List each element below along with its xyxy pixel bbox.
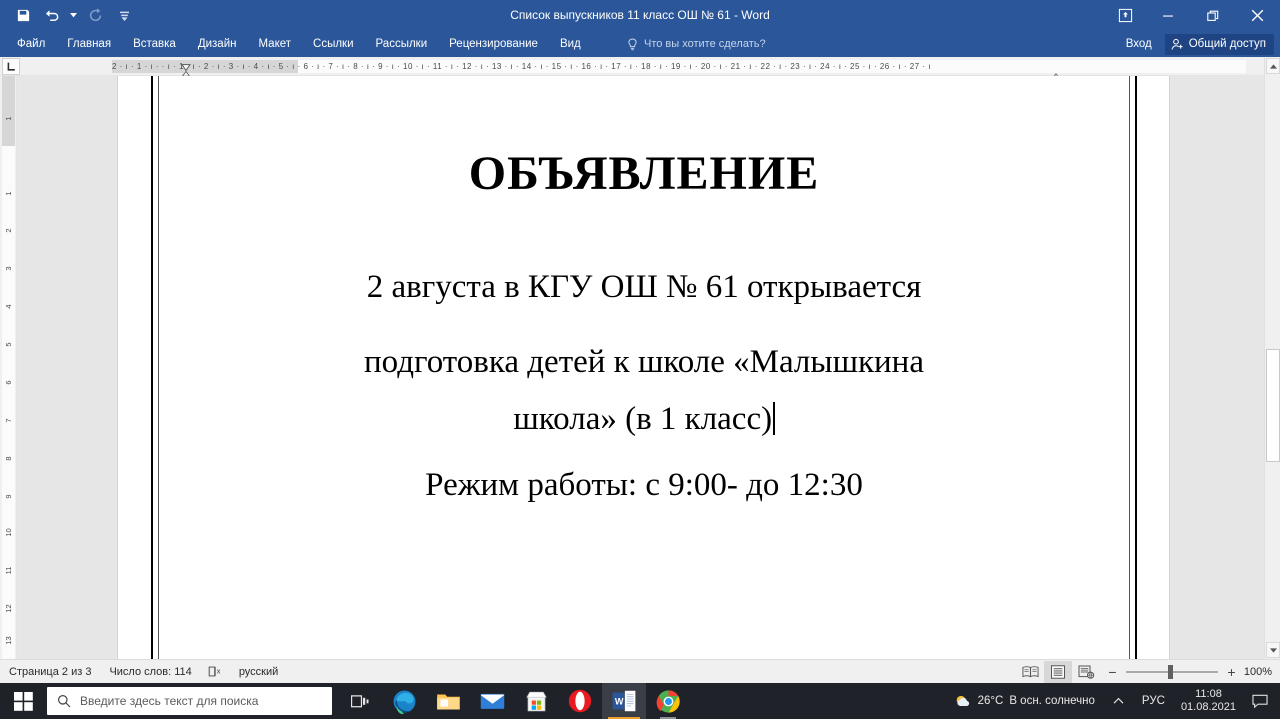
edge-icon[interactable] — [382, 683, 426, 719]
document-paragraph-2-line-1: подготовка детей к школе «Малышкина — [364, 344, 924, 380]
zoom-in-button[interactable]: + — [1225, 662, 1238, 682]
mail-icon[interactable] — [470, 683, 514, 719]
document-paragraph-3: Режим работы: с 9:00- до 12:30 — [178, 469, 1110, 502]
document-paragraph-1: 2 августа в КГУ ОШ № 61 открывается — [178, 271, 1110, 304]
scroll-down-icon[interactable] — [1266, 642, 1280, 658]
ribbon-options-icon[interactable] — [1105, 0, 1145, 31]
clock-time: 11:08 — [1181, 688, 1236, 701]
zoom-out-button[interactable]: − — [1106, 662, 1119, 682]
horizontal-ruler[interactable]: 2 · ı · 1 · ı · · ı · 1 · ı · 2 · ı · 3 … — [0, 57, 1264, 76]
tell-me-label: Что вы хотите сделать? — [644, 38, 766, 50]
text-cursor — [773, 402, 775, 435]
word-application-window: Список выпускников 11 класс ОШ № 61 - Wo… — [0, 0, 1280, 719]
language-indicator[interactable]: русский — [230, 660, 287, 684]
title-bar: Список выпускников 11 класс ОШ № 61 - Wo… — [0, 0, 1280, 31]
sign-in-button[interactable]: Вход — [1117, 31, 1161, 57]
clock-date: 01.08.2021 — [1181, 701, 1236, 714]
sun-cloud-icon — [954, 693, 972, 710]
window-controls — [1105, 0, 1280, 31]
tab-layout[interactable]: Макет — [247, 31, 302, 57]
vertical-ruler-number: 9 — [4, 490, 13, 503]
proofing-errors-icon[interactable]: x — [201, 660, 230, 684]
document-paragraph-2: подготовка детей к школе «Малышкина школ… — [178, 334, 1110, 448]
status-bar-right: − + 100% — [1016, 660, 1276, 684]
language-indicator-tray[interactable]: РУС — [1134, 695, 1173, 707]
share-label: Общий доступ — [1189, 38, 1266, 50]
search-input[interactable]: Введите здесь текст для поиска — [47, 687, 332, 715]
tab-review[interactable]: Рецензирование — [438, 31, 549, 57]
web-layout-icon[interactable] — [1072, 661, 1100, 683]
vertical-ruler-margin — [2, 76, 15, 146]
store-icon[interactable] — [514, 683, 558, 719]
zoom-slider[interactable] — [1126, 662, 1218, 682]
save-icon[interactable] — [10, 4, 36, 28]
restore-icon[interactable] — [1190, 0, 1235, 31]
chrome-icon[interactable] — [646, 683, 690, 719]
vertical-ruler-track: 1 1 2 3 4 5 6 7 8 9 10 11 12 13 — [2, 76, 15, 659]
page-indicator[interactable]: Страница 2 из 3 — [0, 660, 100, 684]
system-tray: 26°C В осн. солнечно РУС 11:08 01.08.202… — [946, 683, 1280, 719]
undo-icon[interactable] — [39, 4, 65, 28]
document-heading: ОБЪЯВЛЕНИЕ — [178, 148, 1110, 201]
search-placeholder: Введите здесь текст для поиска — [80, 694, 258, 708]
person-add-icon — [1171, 38, 1184, 51]
tab-design[interactable]: Дизайн — [187, 31, 248, 57]
document-paragraph-2-line-2: школа» (в 1 класс) — [513, 401, 772, 437]
document-content[interactable]: ОБЪЯВЛЕНИЕ 2 августа в КГУ ОШ № 61 откры… — [178, 76, 1110, 659]
document-canvas[interactable]: ОБЪЯВЛЕНИЕ 2 августа в КГУ ОШ № 61 откры… — [17, 76, 1264, 659]
customize-quick-access-icon[interactable] — [111, 4, 137, 28]
minimize-icon[interactable] — [1145, 0, 1190, 31]
tab-view[interactable]: Вид — [549, 31, 592, 57]
account-area: Вход Общий доступ — [1117, 31, 1274, 57]
zoom-level[interactable]: 100% — [1238, 666, 1276, 678]
vertical-ruler-number: 8 — [4, 452, 13, 465]
vertical-ruler-number: 3 — [4, 262, 13, 275]
status-bar: Страница 2 из 3 Число слов: 114 x русски… — [0, 659, 1280, 683]
zoom-control[interactable]: − + — [1106, 662, 1238, 682]
ruler-tick-labels: 2 · ı · 1 · ı · · ı · 1 · ı · 2 · ı · 3 … — [112, 60, 1167, 73]
ribbon-tabs: Файл Главная Вставка Дизайн Макет Ссылки… — [6, 31, 592, 57]
lightbulb-icon — [626, 37, 639, 52]
ribbon-tab-bar: Файл Главная Вставка Дизайн Макет Ссылки… — [0, 31, 1280, 57]
svg-text:x: x — [217, 667, 221, 676]
vertical-ruler-number: 5 — [4, 338, 13, 351]
vertical-ruler-number: 12 — [4, 602, 13, 615]
zoom-slider-thumb[interactable] — [1168, 665, 1173, 679]
quick-access-toolbar — [10, 0, 137, 31]
svg-text:W: W — [615, 697, 624, 707]
vertical-ruler-number: 2 — [4, 224, 13, 237]
ruler-track: 2 · ı · 1 · ı · · ı · 1 · ı · 2 · ı · 3 … — [112, 60, 1167, 73]
tab-references[interactable]: Ссылки — [302, 31, 365, 57]
weather-temperature: 26°C — [978, 695, 1004, 707]
print-layout-icon[interactable] — [1044, 661, 1072, 683]
scrollbar-thumb[interactable] — [1266, 349, 1280, 462]
clock[interactable]: 11:08 01.08.2021 — [1173, 688, 1244, 714]
taskbar-buttons: W — [338, 683, 690, 719]
tab-insert[interactable]: Вставка — [122, 31, 187, 57]
vertical-ruler-number: 10 — [4, 526, 13, 539]
folder-icon[interactable] — [426, 683, 470, 719]
share-button[interactable]: Общий доступ — [1165, 34, 1274, 55]
word-icon[interactable]: W — [602, 683, 646, 719]
chevron-up-icon[interactable] — [1103, 697, 1134, 705]
undo-dropdown-icon[interactable] — [68, 4, 79, 28]
tell-me-search[interactable]: Что вы хотите сделать? — [626, 31, 766, 57]
vertical-ruler-number: 13 — [4, 634, 13, 647]
vertical-ruler-number: 4 — [4, 300, 13, 313]
redo-icon — [82, 4, 108, 28]
windows-taskbar: Введите здесь текст для поиска — [0, 683, 1280, 719]
tab-home[interactable]: Главная — [56, 31, 122, 57]
right-indent-marker[interactable] — [1051, 67, 1061, 74]
opera-icon[interactable] — [558, 683, 602, 719]
tab-file[interactable]: Файл — [6, 31, 56, 57]
tab-mailings[interactable]: Рассылки — [365, 31, 439, 57]
vertical-ruler-number: 1 — [4, 112, 13, 125]
close-icon[interactable] — [1235, 0, 1280, 31]
word-count[interactable]: Число слов: 114 — [100, 660, 200, 684]
left-indent-marker[interactable] — [181, 66, 191, 74]
search-icon — [57, 694, 71, 708]
windows-start-icon[interactable] — [0, 683, 47, 719]
vertical-ruler-number: 7 — [4, 414, 13, 427]
left-tab-icon[interactable] — [2, 58, 20, 75]
scroll-up-icon[interactable] — [1266, 58, 1280, 74]
weather-widget[interactable]: 26°C В осн. солнечно — [946, 693, 1103, 710]
vertical-scrollbar[interactable] — [1264, 57, 1280, 659]
window-title: Список выпускников 11 класс ОШ № 61 - Wo… — [0, 0, 1280, 31]
vertical-ruler-number: 11 — [4, 564, 13, 577]
vertical-ruler[interactable]: 1 1 2 3 4 5 6 7 8 9 10 11 12 13 — [0, 76, 17, 659]
document-page[interactable]: ОБЪЯВЛЕНИЕ 2 августа в КГУ ОШ № 61 откры… — [118, 76, 1169, 659]
task-view-icon[interactable] — [338, 683, 382, 719]
weather-description: В осн. солнечно — [1009, 695, 1095, 707]
read-mode-icon[interactable] — [1016, 661, 1044, 683]
vertical-ruler-number: 1 — [4, 187, 13, 200]
notification-icon[interactable] — [1244, 694, 1280, 709]
first-line-indent-marker[interactable] — [181, 58, 191, 65]
vertical-ruler-number: 6 — [4, 376, 13, 389]
